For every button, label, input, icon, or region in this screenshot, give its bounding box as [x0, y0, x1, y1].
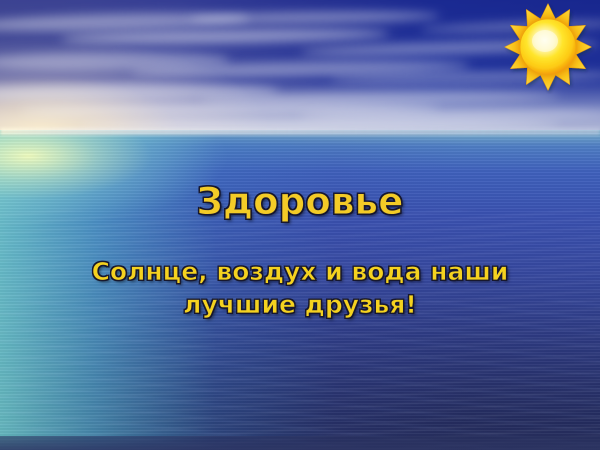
subtitle-line-1: Солнце, воздух и вода наши — [60, 255, 540, 288]
presentation-slide: Здоровье Солнце, воздух и вода наши лучш… — [0, 0, 600, 450]
slide-title: Здоровье — [0, 180, 600, 223]
cloud-streak — [0, 10, 250, 33]
cloud-streak — [60, 27, 390, 46]
cloud-streak — [20, 103, 440, 116]
horizon-line — [0, 128, 600, 135]
sun-icon — [503, 2, 595, 94]
cloud-streak — [300, 109, 600, 121]
slide-subtitle: Солнце, воздух и вода наши лучшие друзья… — [60, 255, 540, 321]
cloud-streak — [0, 83, 280, 102]
cloud-streak — [190, 10, 440, 24]
subtitle-line-2: лучшие друзья! — [60, 288, 540, 321]
cloud-streak — [0, 51, 230, 72]
cloud-streak — [130, 58, 470, 79]
